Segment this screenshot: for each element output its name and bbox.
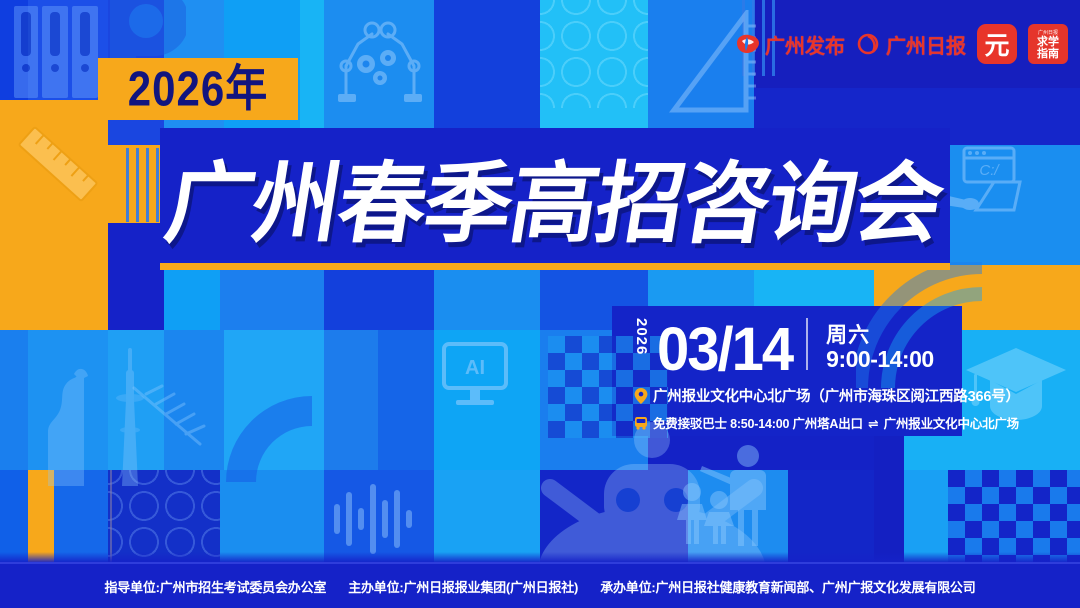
logo-label-line1: 求学 (1037, 37, 1059, 48)
event-date: 03/14 (657, 321, 792, 378)
bg-tile (378, 330, 434, 470)
bg-tile (300, 0, 324, 145)
bg-tile (0, 330, 28, 470)
svg-text:AI: AI (465, 357, 485, 379)
arc-pattern (226, 396, 330, 482)
date-row: 2026 03/14 周六 9:00-14:00 (634, 318, 974, 376)
credit-undertaker: 承办单位:广州日报社健康教育新闻部、广州广报文化发展有限公司 (600, 577, 975, 596)
page-title: 广州春季高招咨询会 (140, 130, 981, 262)
bottom-bar-glow (0, 552, 1080, 562)
divider (806, 318, 808, 370)
credit-organizer: 主办单位:广州日报报业集团(广州日报社) (348, 577, 578, 596)
shuttle-prefix: 免费接驳巴士 8:50-14:00 广州塔A出口 (653, 417, 863, 431)
logo-label: 广州发布 (765, 30, 845, 59)
robot-arm-gears-icon (332, 8, 428, 104)
binders-icon (8, 2, 108, 102)
bus-icon (634, 415, 648, 431)
svg-text:C:/: C:/ (979, 162, 1000, 179)
shuttle-suffix: 广州报业文化中心北广场 (884, 417, 1019, 431)
poster-canvas: AI (0, 0, 1080, 608)
logo-label: 元 (984, 26, 1009, 62)
title-underline (160, 263, 950, 270)
bg-tile (324, 330, 378, 470)
logo-qiuxue-zhinan-square[interactable]: 广州日报 求学 指南 (1028, 24, 1068, 64)
event-year: 2026 (634, 318, 649, 372)
venue-line: 广州报业文化中心北广场（广州市海珠区阅江西路366号） (634, 385, 974, 406)
sound-wave-icon (330, 478, 426, 558)
rounded-grid-pattern (540, 0, 648, 108)
shuttle-line: 免费接驳巴士 8:50-14:00 广州塔A出口 ⇌ 广州报业文化中心北广场 (634, 413, 974, 432)
logo-guangzhou-fabu[interactable]: 广州发布 (735, 30, 845, 59)
shuttle-arrow-icon: ⇌ (866, 416, 880, 431)
bottom-bar: 指导单位:广州市招生考试委员会办公室 主办单位:广州日报报业集团(广州日报社) … (0, 562, 1080, 608)
ruler-icon (6, 112, 110, 216)
shuttle-text: 免费接驳巴士 8:50-14:00 广州塔A出口 ⇌ 广州报业文化中心北广场 (653, 413, 1019, 432)
event-hours: 9:00-14:00 (826, 347, 934, 372)
flame-mark-icon (735, 33, 761, 55)
weekday-time: 周六 9:00-14:00 (826, 325, 934, 373)
credit-guidance: 指导单位:广州市招生考试委员会办公室 (104, 577, 326, 596)
logo-label: 广州日报 (886, 30, 966, 59)
venue-text: 广州报业文化中心北广场（广州市海珠区阅江西路366号） (653, 385, 1020, 406)
bg-tile (0, 218, 108, 330)
circle-mark-icon (856, 33, 882, 55)
logo-row: 广州发布 广州日报 元 广州日报 求学 指南 (735, 22, 1068, 66)
event-weekday: 周六 (826, 325, 934, 348)
leaf-icon (128, 382, 212, 452)
credits-row: 指导单位:广州市招生考试委员会办公室 主办单位:广州日报报业集团(广州日报社) … (104, 577, 975, 596)
logo-label-line2: 指南 (1037, 49, 1059, 60)
event-info: 2026 03/14 周六 9:00-14:00 广州报业文化中心北广场（广州市… (634, 318, 974, 432)
year-badge-label: 2026年 (128, 64, 268, 114)
logo-yuan-square[interactable]: 元 (977, 24, 1017, 64)
bg-tile (434, 0, 540, 145)
year-badge: 2026年 (98, 58, 298, 120)
teacher-students-icon (672, 440, 782, 546)
location-pin-icon (634, 388, 648, 404)
logo-guangzhou-daily[interactable]: 广州日报 (856, 30, 966, 59)
logo-sublabel: 广州日报 (1038, 31, 1058, 36)
